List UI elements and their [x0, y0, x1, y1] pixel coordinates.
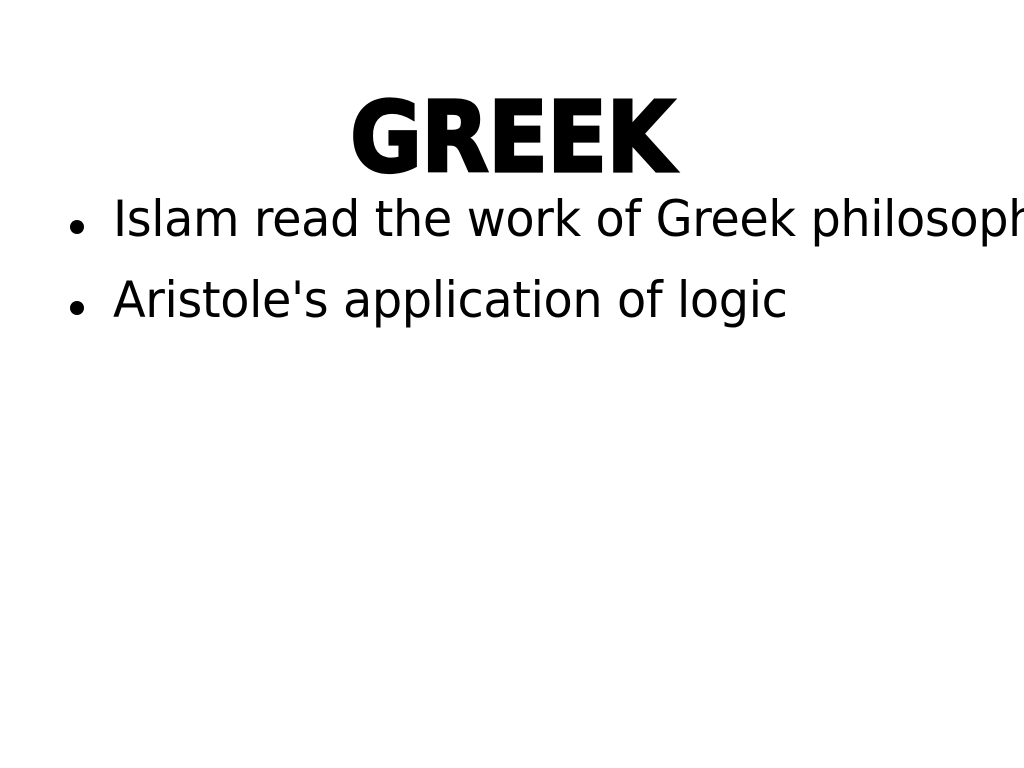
- list-item: Aristole's application of logic: [60, 273, 1000, 327]
- bullet-point-icon: [60, 192, 113, 246]
- bullet-item-label: Aristole's application of logic: [113, 273, 960, 327]
- bullet-item-label: Islam read the work of Greek philosopher…: [113, 192, 1024, 246]
- presentation-slide: GREEK Islam read the work of Greek philo…: [0, 0, 1024, 768]
- bullet-list: Islam read the work of Greek philosopher…: [60, 192, 1000, 354]
- slide-title: GREEK: [51, 89, 973, 186]
- list-item: Islam read the work of Greek philosopher…: [60, 192, 1000, 246]
- bullet-point-icon: [60, 273, 113, 327]
